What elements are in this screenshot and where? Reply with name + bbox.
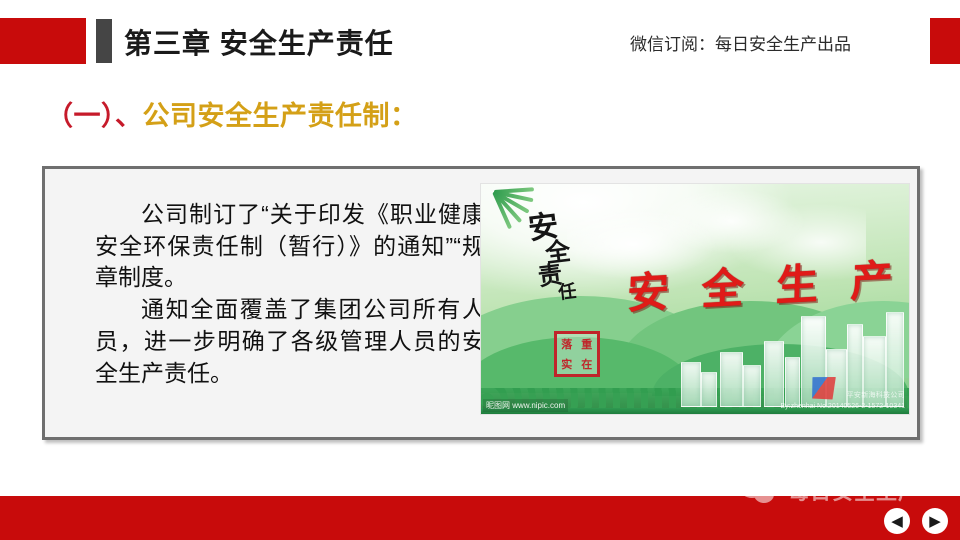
- section-number-label: （一）、: [46, 101, 143, 131]
- seal-char: 实: [561, 359, 572, 370]
- paragraph-1: 公司制订了“关于印发《职业健康安全环保责任制（暂行）》的通知”“规章制度。: [95, 199, 485, 294]
- poster-calligraphy: 安 全 责 任: [527, 208, 601, 304]
- slide-navigation: ◀ ▶: [884, 508, 948, 534]
- building-shape: [681, 362, 701, 407]
- header-red-block-right: [930, 18, 960, 64]
- building-shape: [701, 372, 717, 407]
- body-text-block: 公司制订了“关于印发《职业健康安全环保责任制（暂行）》的通知”“规章制度。 通知…: [95, 199, 485, 389]
- header-gray-accent-bar: [96, 19, 112, 63]
- poster-credit-line-1: 平安新海科技公司: [847, 390, 905, 400]
- section-heading: （一）、公司安全生产责任制：: [46, 94, 418, 133]
- building-shape: [743, 365, 761, 408]
- next-slide-button[interactable]: ▶: [922, 508, 948, 534]
- paragraph-2: 通知全面覆盖了集团公司所有人员，进一步明确了各级管理人员的安全生产责任。: [95, 294, 485, 389]
- section-heading-text: 公司安全生产责任制：: [143, 101, 418, 131]
- slide-root: 第三章 安全生产责任 微信订阅：每日安全生产出品 （一）、公司安全生产责任制： …: [0, 0, 960, 540]
- seal-char: 重: [581, 339, 592, 350]
- seal-char: 落: [561, 339, 572, 350]
- header-red-block-left: [0, 18, 86, 64]
- safety-poster-image: 安 全 责 任 落 重 实 在 安 全 生 产 平安新海科技公司 By:zhen…: [480, 183, 910, 415]
- building-shape: [764, 341, 784, 407]
- poster-watermark: 昵图网 www.nipic.com: [483, 399, 568, 412]
- page-title: 第三章 安全生产责任: [124, 20, 394, 64]
- seal-char: 在: [581, 359, 592, 370]
- poster-red-seal: 落 重 实 在: [554, 331, 600, 377]
- building-shape: [785, 357, 801, 407]
- poster-credit-line-2: By:zhenhai No.20140526-2-1572-10341: [780, 403, 905, 410]
- wechat-subscribe-note: 微信订阅：每日安全生产出品: [630, 30, 851, 55]
- prev-slide-button[interactable]: ◀: [884, 508, 910, 534]
- footer-red-bar: [0, 496, 960, 540]
- content-box: 公司制订了“关于印发《职业健康安全环保责任制（暂行）》的通知”“规章制度。 通知…: [42, 166, 920, 440]
- slide-header: 第三章 安全生产责任 微信订阅：每日安全生产出品: [0, 0, 960, 82]
- building-shape: [720, 352, 743, 407]
